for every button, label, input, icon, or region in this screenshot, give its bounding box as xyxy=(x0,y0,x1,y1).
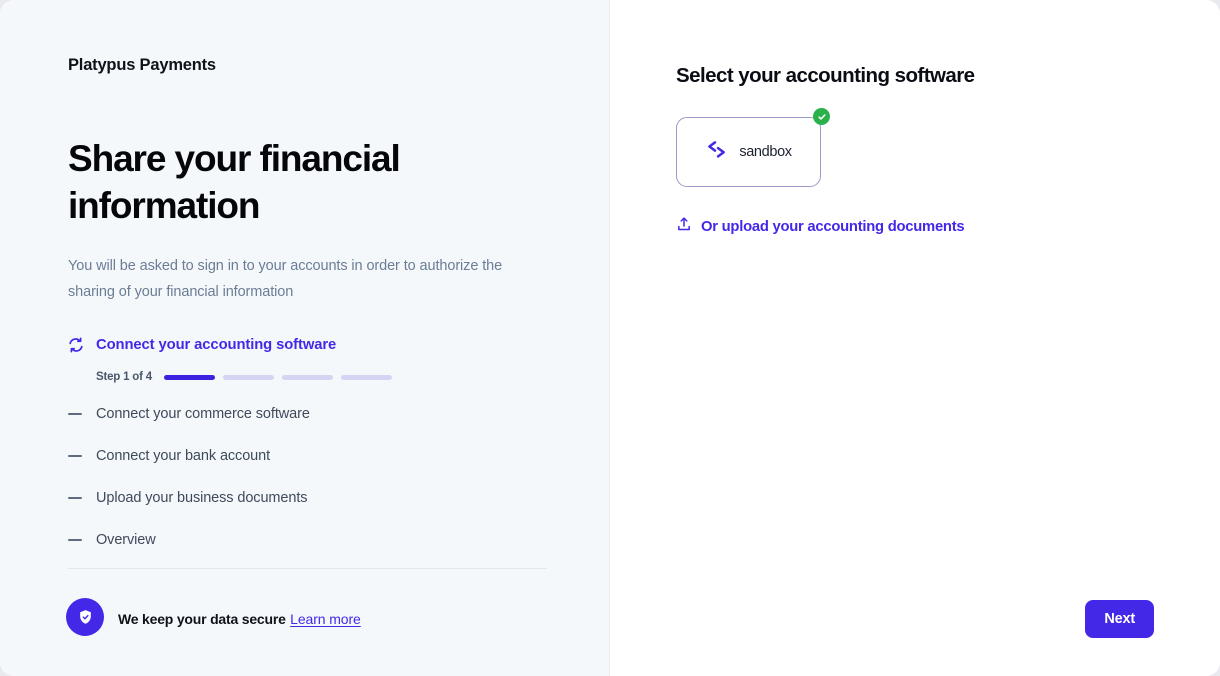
steps-list: Connect your accounting software Step 1 … xyxy=(68,332,547,553)
security-text: We keep your data secure Learn more xyxy=(118,606,361,629)
upload-icon xyxy=(676,216,692,237)
next-button[interactable]: Next xyxy=(1085,600,1154,638)
upload-link-label: Or upload your accounting documents xyxy=(701,219,964,235)
step-item-commerce-software[interactable]: Connect your commerce software xyxy=(68,401,547,427)
onboarding-page: Platypus Payments Share your financial i… xyxy=(0,0,1220,676)
brand-name: Platypus Payments xyxy=(68,56,547,75)
sync-icon xyxy=(68,337,96,353)
step-label: Overview xyxy=(96,532,156,548)
dash-icon xyxy=(68,455,96,458)
section-title: Select your accounting software xyxy=(676,64,1154,88)
provider-card-sandbox[interactable]: sandbox xyxy=(676,117,821,187)
check-circle-icon xyxy=(813,108,830,125)
step-item-accounting-software[interactable]: Connect your accounting software xyxy=(68,332,547,358)
dash-icon xyxy=(68,497,96,500)
upload-documents-link[interactable]: Or upload your accounting documents xyxy=(676,216,964,237)
provider-card-content: sandbox xyxy=(705,137,791,167)
page-subtitle: You will be asked to sign in to your acc… xyxy=(68,253,546,305)
learn-more-link[interactable]: Learn more xyxy=(290,611,361,627)
dash-icon xyxy=(68,413,96,416)
step-item-business-documents[interactable]: Upload your business documents xyxy=(68,485,547,511)
progress-segment-4 xyxy=(341,375,392,380)
step-label: Connect your commerce software xyxy=(96,406,310,422)
step-label: Connect your bank account xyxy=(96,448,270,464)
security-notice: We keep your data secure Learn more xyxy=(66,598,361,636)
step-item-overview[interactable]: Overview xyxy=(68,527,547,553)
progress-segment-3 xyxy=(282,375,333,380)
dash-icon xyxy=(68,539,96,542)
progress-segment-2 xyxy=(223,375,274,380)
shield-check-icon xyxy=(66,598,104,636)
page-title: Share your financial information xyxy=(68,135,468,229)
step-progress: Step 1 of 4 xyxy=(96,371,547,383)
step-item-bank-account[interactable]: Connect your bank account xyxy=(68,443,547,469)
step-label: Connect your accounting software xyxy=(96,337,336,353)
security-title: We keep your data secure xyxy=(118,611,286,627)
divider xyxy=(68,568,547,569)
right-panel: Select your accounting software sandb xyxy=(610,0,1220,676)
code-chevrons-icon xyxy=(705,137,730,167)
left-panel: Platypus Payments Share your financial i… xyxy=(0,0,610,676)
provider-label: sandbox xyxy=(739,144,791,160)
progress-segment-1 xyxy=(164,375,215,380)
step-label: Upload your business documents xyxy=(96,490,307,506)
step-progress-label: Step 1 of 4 xyxy=(96,371,152,383)
provider-list: sandbox xyxy=(676,117,1154,187)
